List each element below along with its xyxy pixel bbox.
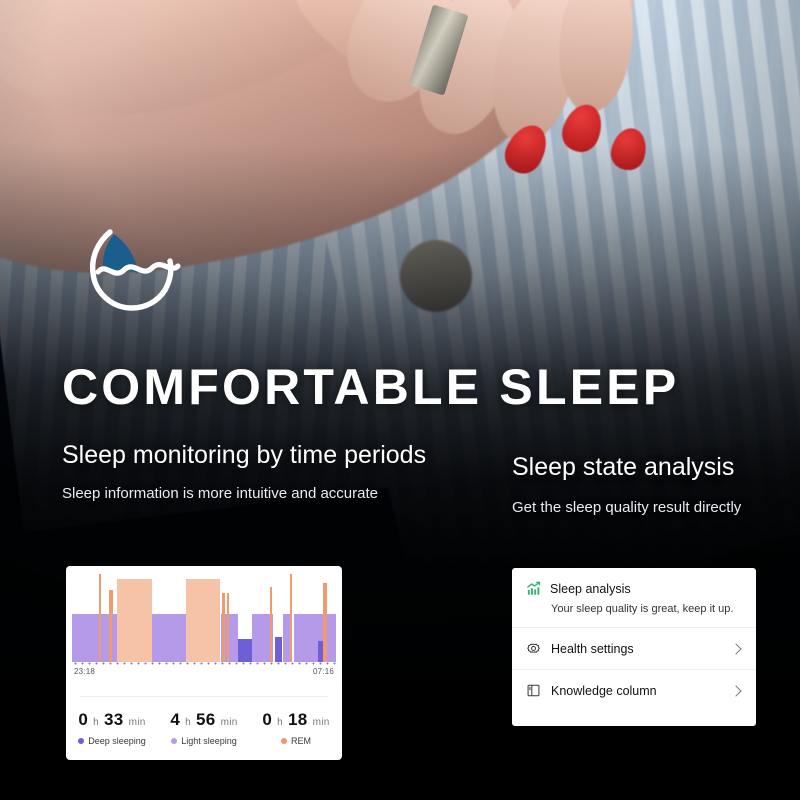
chart-bar-rem (186, 579, 220, 662)
sleep-stat: 4 h 56 minLight sleeping (158, 710, 250, 746)
legend-label: Deep sleeping (88, 736, 146, 746)
gear-icon (526, 641, 541, 656)
chart-bar-rem_spike (222, 593, 224, 662)
legend-color-dot (171, 738, 177, 744)
card-divider (80, 696, 328, 697)
chart-bar-light (72, 614, 100, 662)
sleep-menu-card: Sleep analysis Your sleep quality is gre… (512, 568, 756, 726)
sleep-stat-legend: REM (250, 736, 342, 746)
sleep-chart-card: 23:18 07:16 0 h 33 minDeep sleeping4 h 5… (66, 566, 342, 760)
left-column: Sleep monitoring by time periods Sleep i… (62, 440, 462, 504)
chart-bar-rem_spike (270, 587, 272, 662)
page-title: COMFORTABLE SLEEP (62, 362, 762, 412)
right-column: Sleep state analysis Get the sleep quali… (512, 452, 792, 518)
sleep-stat: 0 h 18 minREM (250, 710, 342, 746)
chart-bar-deep (238, 639, 251, 662)
sleep-stat-value: 0 h 18 min (250, 710, 342, 730)
sleep-stat: 0 h 33 minDeep sleeping (66, 710, 158, 746)
sleep-stat-value: 0 h 33 min (66, 710, 158, 730)
chart-bar-light (327, 614, 336, 662)
sleep-stage-chart (72, 574, 336, 662)
menu-item-label: Health settings (551, 642, 742, 656)
right-heading: Sleep state analysis (512, 452, 792, 483)
sleep-analysis-block[interactable]: Sleep analysis Your sleep quality is gre… (512, 568, 756, 627)
crescent-moon-icon (62, 216, 190, 320)
axis-end-time: 07:16 (313, 667, 334, 676)
chart-bars (72, 574, 336, 662)
chart-bar-rem_spike (290, 574, 293, 662)
chart-axis-labels: 23:18 07:16 (74, 667, 334, 676)
legend-label: REM (291, 736, 311, 746)
chart-axis-dotted-line (72, 662, 336, 665)
chart-bar-deep (275, 637, 282, 662)
left-description: Sleep information is more intuitive and … (62, 483, 462, 504)
menu-item-knowledge-column[interactable]: Knowledge column (512, 670, 756, 711)
book-icon (526, 683, 541, 698)
sleep-stat-legend: Deep sleeping (66, 736, 158, 746)
menu-item-health-settings[interactable]: Health settings (512, 628, 756, 669)
right-description: Get the sleep quality result directly (512, 497, 792, 518)
chart-bar-light (229, 614, 239, 662)
legend-label: Light sleeping (181, 736, 237, 746)
menu-item-label: Knowledge column (551, 684, 742, 698)
sleep-stat-legend: Light sleeping (158, 736, 250, 746)
sleep-analysis-title: Sleep analysis (550, 582, 631, 596)
left-heading: Sleep monitoring by time periods (62, 440, 462, 471)
chart-bar-rem (117, 579, 151, 662)
chart-bar-light (152, 614, 186, 662)
sleep-analysis-description: Your sleep quality is great, keep it up. (551, 603, 742, 615)
sleep-promo-page: COMFORTABLE SLEEP Sleep monitoring by ti… (0, 0, 800, 800)
sleep-stats-row: 0 h 33 minDeep sleeping4 h 56 minLight s… (66, 710, 342, 746)
sleep-stat-value: 4 h 56 min (158, 710, 250, 730)
legend-color-dot (281, 738, 287, 744)
axis-start-time: 23:18 (74, 667, 95, 676)
legend-color-dot (78, 738, 84, 744)
bar-chart-trend-icon (526, 581, 541, 596)
